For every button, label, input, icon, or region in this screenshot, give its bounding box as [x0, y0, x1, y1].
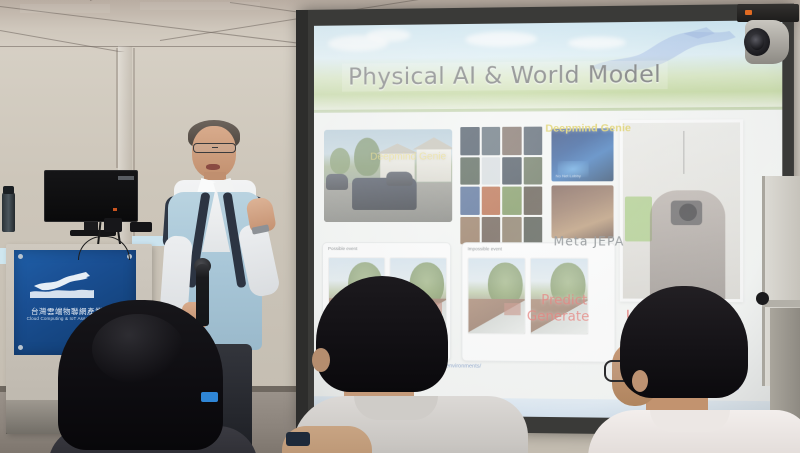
genie-photo-caption: No Net Lobby [556, 173, 581, 178]
audience-water-bottle-cap [201, 392, 218, 402]
desk-device-box [104, 218, 122, 232]
audience-center-hair [316, 276, 448, 392]
desk-bottle [2, 192, 15, 232]
desk-bottle-cap [3, 186, 14, 194]
frame-thumbnail-grid [460, 127, 542, 245]
audience-member-center [292, 276, 522, 453]
presenter-mouth [206, 164, 220, 170]
audience-center-watch [286, 432, 310, 446]
meta-jepa-label: Meta JEPA [554, 234, 625, 248]
desk-device-box-2 [130, 222, 152, 232]
audience-left-hair [58, 300, 223, 450]
monitor-power-led-icon [113, 208, 117, 211]
ptz-camera-lens-inner [750, 34, 764, 50]
generate-label: Generate [527, 309, 590, 325]
audience-member-left [48, 300, 248, 453]
predict-label: Predict [541, 293, 587, 308]
genie-blue-photo: No Net Lobby [551, 128, 613, 181]
street-scene-photo: Deepmind Genie [324, 129, 452, 222]
camera-person-photo [620, 119, 743, 302]
slide-title: Physical AI & World Model [342, 60, 667, 91]
panther-logo-icon [30, 272, 94, 302]
impossible-event-label: Impossible event [467, 246, 502, 251]
genie-second-photo [551, 185, 613, 238]
possible-event-label: Possible event [328, 246, 357, 251]
audience-member-right [592, 286, 800, 453]
deepmind-genie-ghost-label: Deepmind Genie [370, 151, 446, 162]
presentation-photo-scene: Physical AI & World Model Deepmind Genie [0, 0, 800, 453]
monitor-glint [118, 176, 134, 180]
ptz-status-led-icon [745, 10, 752, 15]
deepmind-genie-label: Deepmind Genie [545, 122, 631, 135]
